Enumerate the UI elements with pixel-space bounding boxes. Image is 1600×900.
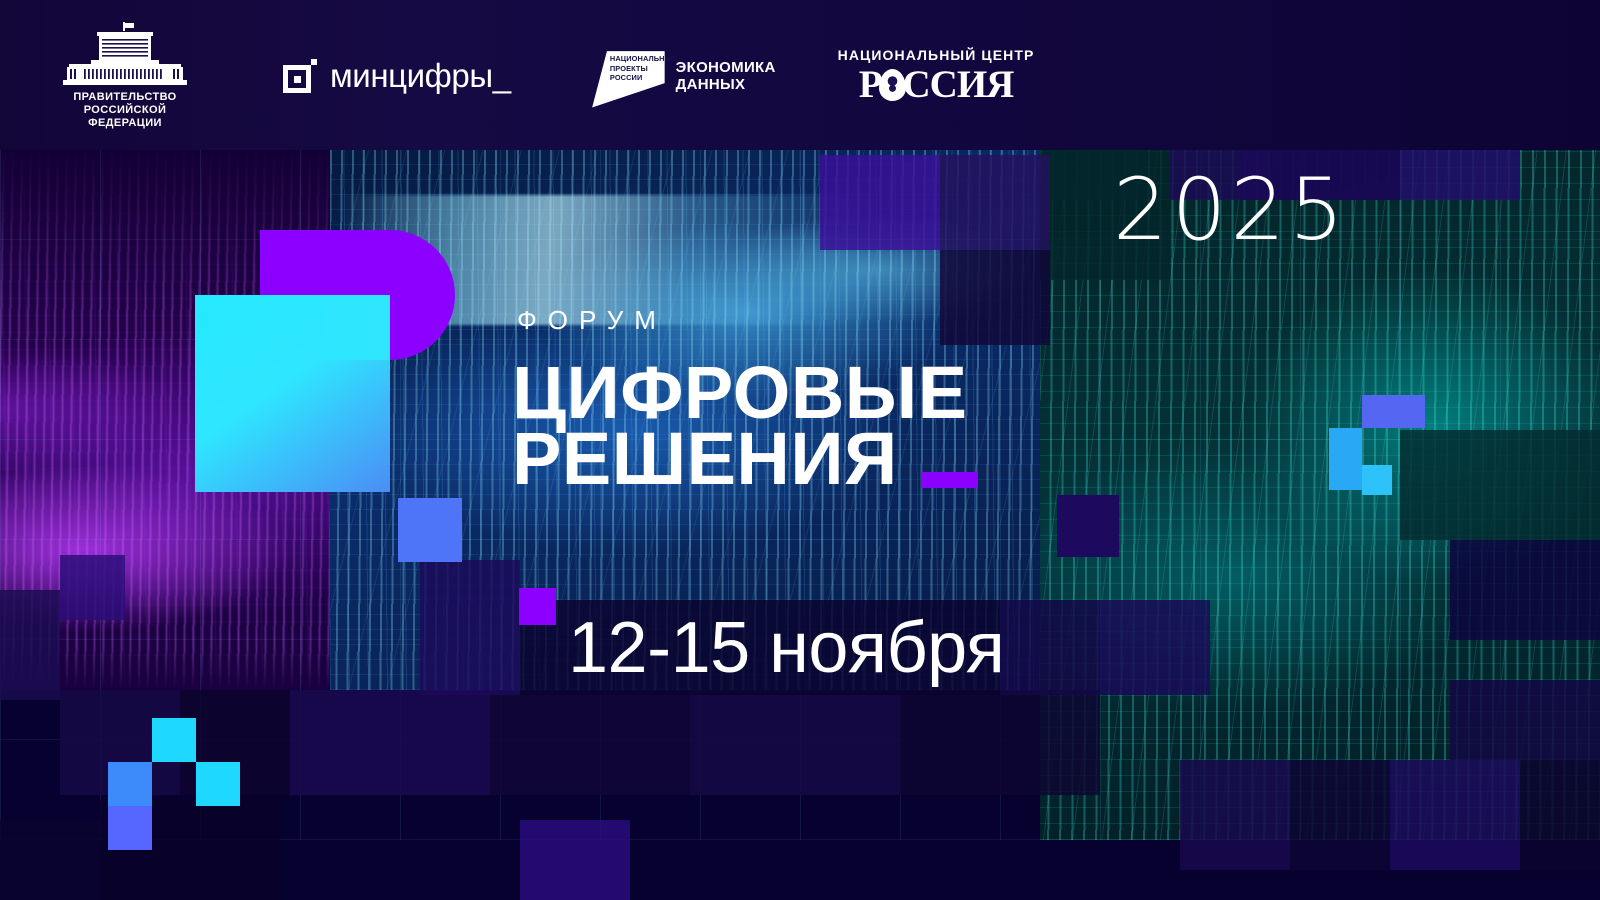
np-line-1: НАЦИОНАЛЬНЫЕ bbox=[610, 54, 663, 63]
mosaic-tile bbox=[1450, 540, 1600, 640]
partner-logos: ПРАВИТЕЛЬСТВО РОССИЙСКОЙ ФЕДЕРАЦИИ минци… bbox=[55, 18, 1034, 133]
national-center-label: НАЦИОНАЛЬНЫЙ ЦЕНТР bbox=[838, 47, 1035, 63]
mincifry-wordmark: минцифры_ bbox=[330, 57, 511, 95]
event-year: 2025 bbox=[1113, 160, 1348, 260]
mosaic-tile bbox=[0, 820, 100, 900]
economy-of-data-line-1: ЭКОНОМИКА bbox=[676, 59, 776, 76]
mosaic-tile bbox=[0, 590, 60, 700]
logo-economy-of-data[interactable]: НАЦИОНАЛЬНЫЕ ПРОЕКТЫ РОССИИ ЭКОНОМИКА ДА… bbox=[591, 44, 776, 108]
mosaic-tile bbox=[1390, 760, 1520, 870]
national-projects-flag-icon: НАЦИОНАЛЬНЫЕ ПРОЕКТЫ РОССИИ bbox=[591, 44, 665, 108]
russia-ornament-icon bbox=[879, 69, 906, 101]
mosaic-tile bbox=[60, 555, 125, 620]
deco-square-blue-2 bbox=[108, 806, 152, 850]
gov-line-2: РОССИЙСКОЙ bbox=[73, 104, 176, 117]
mosaic-tile bbox=[690, 690, 900, 795]
mosaic-tile bbox=[1100, 600, 1210, 695]
mosaic-tile bbox=[900, 690, 1100, 795]
gov-line-3: ФЕДЕРАЦИИ bbox=[73, 117, 176, 130]
logo-mincifry[interactable]: минцифры_ bbox=[283, 57, 511, 95]
deco-square-cyan-3 bbox=[1329, 428, 1362, 490]
deco-square-blue-3 bbox=[1362, 395, 1425, 428]
np-line-3: РОССИИ bbox=[610, 73, 663, 82]
page-title: ЦИФРОВЫЕ РЕШЕНИЯ bbox=[512, 360, 968, 492]
mosaic-tile bbox=[290, 690, 490, 795]
mosaic-tile bbox=[1450, 680, 1600, 760]
np-line-2: ПРОЕКТЫ bbox=[610, 64, 663, 73]
title-underscore-accent bbox=[921, 472, 978, 488]
mincifry-square-icon bbox=[283, 59, 317, 93]
gov-line-1: ПРАВИТЕЛЬСТВО bbox=[73, 91, 176, 104]
mosaic-tile bbox=[940, 250, 1050, 345]
mosaic-tile bbox=[820, 155, 940, 250]
dates-accent-chip bbox=[519, 588, 556, 625]
banner-stage: ПРАВИТЕЛЬСТВО РОССИЙСКОЙ ФЕДЕРАЦИИ минци… bbox=[0, 0, 1600, 900]
mosaic-tile bbox=[1000, 600, 1100, 695]
forum-r-logo-mark bbox=[195, 230, 457, 492]
deco-square-blue-4 bbox=[398, 498, 462, 562]
event-dates: 12-15 ноября bbox=[568, 607, 1004, 689]
logo-government-of-russia[interactable]: ПРАВИТЕЛЬСТВО РОССИЙСКОЙ ФЕДЕРАЦИИ bbox=[55, 22, 195, 130]
deco-square-cyan-2 bbox=[196, 762, 240, 806]
deco-square-blue-1 bbox=[108, 762, 152, 806]
deco-square-purple-1 bbox=[1057, 495, 1119, 557]
mosaic-tile bbox=[490, 690, 690, 795]
mosaic-tile bbox=[420, 560, 520, 695]
deco-square-cyan-1 bbox=[152, 718, 196, 762]
economy-of-data-line-2: ДАННЫХ bbox=[676, 76, 776, 93]
hero-eyebrow: ФОРУМ bbox=[517, 305, 667, 336]
mosaic-tile bbox=[1180, 760, 1290, 870]
russia-wordmark: Р ССИЯ bbox=[859, 65, 1014, 105]
mosaic-tile bbox=[940, 155, 1050, 250]
mosaic-tile bbox=[1520, 760, 1600, 870]
government-house-icon bbox=[61, 22, 189, 88]
russia-wordmark-left: Р bbox=[859, 65, 882, 105]
russia-wordmark-right: ССИЯ bbox=[903, 65, 1014, 105]
mosaic-tile bbox=[1290, 760, 1390, 870]
logo-national-center-russia[interactable]: НАЦИОНАЛЬНЫЙ ЦЕНТР Р ССИЯ bbox=[838, 47, 1035, 105]
mosaic-tile bbox=[1400, 430, 1600, 540]
header-bar: ПРАВИТЕЛЬСТВО РОССИЙСКОЙ ФЕДЕРАЦИИ минци… bbox=[0, 0, 1600, 150]
mosaic-tile bbox=[520, 820, 630, 900]
title-line-2: РЕШЕНИЯ bbox=[512, 426, 968, 492]
deco-square-cyan-4 bbox=[1362, 465, 1392, 495]
